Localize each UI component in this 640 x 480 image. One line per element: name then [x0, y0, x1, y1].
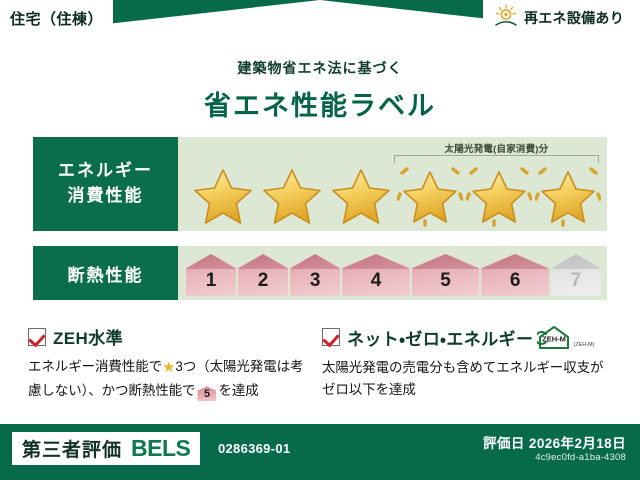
zeh-body-part1: エネルギー消費性能で — [28, 359, 162, 374]
criteria-nze-title: ネット・ゼロ・エネルギー — [347, 325, 533, 350]
star-6-solar — [535, 163, 601, 227]
energy-performance-field: 太陽光発電(自家消費)分 — [178, 137, 607, 231]
zeh-check-icon — [28, 328, 46, 346]
star-2 — [259, 163, 325, 227]
zeh-body-part3: を達成 — [218, 383, 258, 398]
star-rating-strip — [190, 163, 601, 227]
evaluation-id: 4c9ec0fd-a1ba-4308 — [535, 452, 626, 463]
page-title: 建築物省エネ法に基づく 省エネ性能ラベル — [0, 58, 640, 123]
star-1 — [190, 163, 256, 227]
criteria-zeh-title: ZEH水準 — [53, 324, 123, 349]
grade-value: 2 — [258, 270, 269, 292]
bels-number: 0286369-01 — [218, 441, 290, 456]
bels-logo-text: BELS — [131, 435, 190, 462]
insulation-grade-3: 3 — [290, 254, 340, 296]
grade-value: 5 — [440, 270, 451, 292]
renewable-equipment-label: 再エネ設備あり — [524, 8, 624, 28]
insulation-grade-1: 1 — [186, 254, 236, 296]
solar-range-bracket — [394, 155, 599, 163]
energy-performance-row: エネルギー 消費性能 太陽光発電(自家消費)分 — [33, 137, 607, 231]
zeh-m-house-icon: ZEH-M (ZEH-M) — [537, 324, 594, 350]
insulation-performance-field: 1 2 3 4 5 — [178, 246, 607, 300]
svg-text:ZEH-M: ZEH-M — [543, 335, 567, 344]
energy-label-line2: 消費性能 — [68, 184, 144, 209]
renewable-equipment-tag: 再エネ設備あり — [483, 0, 640, 36]
evaluation-date: 評価日 2026年2月18日 — [483, 432, 626, 452]
title-main: 省エネ性能ラベル — [0, 84, 640, 123]
dwelling-type-label: 住宅（住棟） — [10, 8, 103, 29]
insulation-grade-7: 7 — [551, 254, 601, 296]
dwelling-type-tag: 住宅（住棟） — [0, 0, 113, 36]
criteria-zeh-body: エネルギー消費性能で★3つ（太陽光発電は考慮しない）、かつ断熱性能で5を達成 — [28, 356, 316, 402]
solar-generation-note: 太陽光発電(自家消費)分 — [394, 141, 599, 155]
energy-performance-label: 住宅（住棟） 再エネ設備あり 建築物省エネ法に基づく 省エネ性能ラベル — [0, 0, 640, 480]
insulation-performance-row: 断熱性能 1 2 3 4 — [33, 246, 607, 300]
footer-bar: 第三者評価 BELS 0286369-01 評価日 2026年2月18日 4c9… — [0, 424, 640, 480]
criteria-nze-body: 太陽光発電の売電分も含めてエネルギー収支がゼロ以下を達成 — [322, 357, 610, 401]
inline-grade-badge: 5 — [197, 386, 216, 401]
grade-value: 1 — [206, 270, 217, 292]
zeh-m-caption: (ZEH-M) — [573, 342, 594, 350]
star-5-solar — [466, 163, 532, 227]
energy-performance-label: エネルギー 消費性能 — [33, 137, 178, 231]
criteria-zeh: ZEH水準 エネルギー消費性能で★3つ（太陽光発電は考慮しない）、かつ断熱性能で… — [28, 324, 316, 402]
criteria-net-zero-energy: ネット・ゼロ・エネルギー ZEH-M (ZEH-M) 太陽光発電の売電分も含めて… — [322, 324, 610, 401]
grade-value: 3 — [310, 270, 321, 292]
star-4-solar — [397, 163, 463, 227]
title-subtitle: 建築物省エネ法に基づく — [0, 58, 640, 78]
insulation-label-text: 断熱性能 — [68, 261, 144, 286]
third-party-evaluation-label: 第三者評価 — [22, 435, 122, 462]
criteria-zeh-header: ZEH水準 — [28, 324, 316, 349]
insulation-grade-strip: 1 2 3 4 5 — [186, 250, 601, 296]
nze-check-icon — [322, 328, 340, 346]
insulation-grade-4: 4 — [342, 254, 410, 296]
energy-label-line1: エネルギー — [58, 159, 153, 184]
grade-value: 6 — [510, 270, 521, 292]
grade-value: 7 — [571, 270, 582, 292]
star-3 — [328, 163, 394, 227]
grade-value: 4 — [371, 270, 382, 292]
bels-plate: 第三者評価 BELS — [12, 432, 200, 465]
insulation-performance-label: 断熱性能 — [33, 246, 178, 300]
insulation-grade-5: 5 — [412, 254, 480, 296]
inline-star-icon: ★ — [162, 359, 175, 376]
insulation-grade-6: 6 — [481, 254, 549, 296]
sun-horizon-icon — [493, 4, 519, 33]
criteria-nze-header: ネット・ゼロ・エネルギー ZEH-M (ZEH-M) — [322, 324, 610, 350]
insulation-grade-2: 2 — [238, 254, 288, 296]
